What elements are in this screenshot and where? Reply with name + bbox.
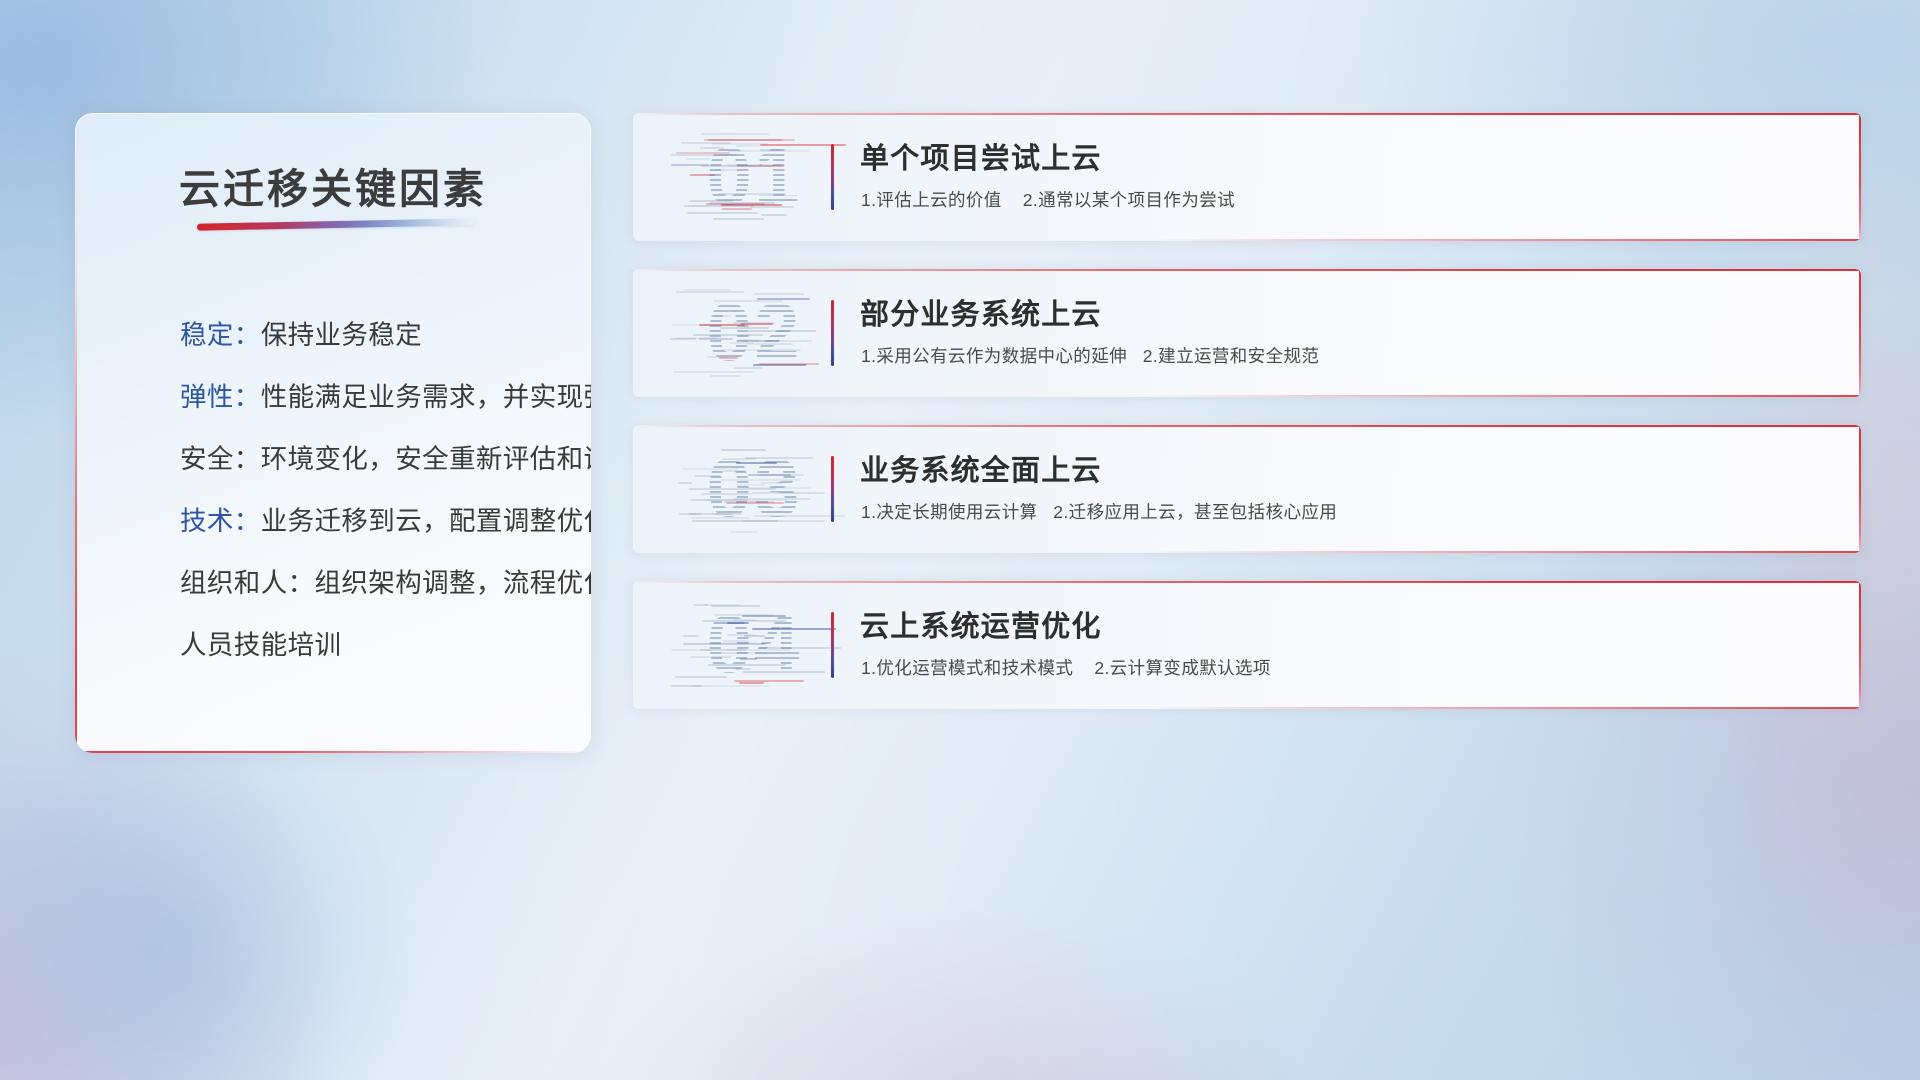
factor-label: 稳定：	[180, 320, 261, 350]
card-description: 1.决定长期使用云计算 2.迁移应用上云，甚至包括核心应用	[861, 499, 1337, 524]
list-item: 人员技能培训	[180, 627, 561, 663]
list-item: 技术：业务迁移到云，配置调整优化	[180, 503, 561, 539]
list-item: 安全：环境变化，安全重新评估和评审	[180, 441, 561, 477]
card-right-accent-border	[1859, 581, 1861, 709]
factor-text: 性能满足业务需求，并实现弹性	[261, 382, 591, 412]
card-description: 1.采用公有云作为数据中心的延伸 2.建立运营和安全规范	[861, 343, 1319, 368]
card-top-accent-border	[633, 425, 1861, 427]
slide-stage: 云迁移关键因素 稳定：保持业务稳定 弹性：性能满足业务需求，并实现弹性 安全：环…	[0, 0, 1920, 1080]
factor-text: 业务迁移到云，配置调整优化	[261, 506, 591, 536]
stage-card-01[interactable]: 01 单个项目尝试上云 1.评估上云的价值 2.通常以某个项目作为尝试	[633, 113, 1861, 241]
factor-label: 弹性：	[180, 382, 261, 412]
card-title: 业务系统全面上云	[860, 447, 1102, 489]
card-number-watermark: 01	[669, 129, 839, 225]
factor-text: 保持业务稳定	[261, 320, 422, 350]
list-item: 组织和人：组织架构调整，流程优化，	[180, 565, 561, 601]
stage-cards-list: 01 单个项目尝试上云 1.评估上云的价值 2.通常以某个项目作为尝试 02 部…	[633, 113, 1861, 709]
card-top-accent-border	[633, 113, 1861, 115]
card-description: 1.优化运营模式和技术模式 2.云计算变成默认选项	[861, 655, 1271, 680]
card-right-accent-border	[1859, 425, 1861, 553]
card-bottom-accent-border	[1149, 707, 1861, 709]
card-divider-bar	[831, 144, 834, 210]
card-divider-bar	[831, 612, 834, 678]
card-number-watermark: 03	[669, 441, 839, 537]
card-number-watermark: 02	[669, 285, 839, 381]
factor-text: 组织架构调整，流程优化，	[315, 568, 592, 598]
factor-label: 技术：	[180, 506, 261, 536]
title-underline-rule	[197, 218, 475, 230]
factor-text: 环境变化，安全重新评估和评审	[261, 444, 591, 474]
factor-label: 安全：	[180, 444, 261, 474]
stage-card-02[interactable]: 02 部分业务系统上云 1.采用公有云作为数据中心的延伸 2.建立运营和安全规范	[633, 269, 1861, 397]
card-top-accent-border	[633, 269, 1861, 271]
card-title: 单个项目尝试上云	[860, 135, 1102, 177]
card-title: 云上系统运营优化	[860, 603, 1102, 645]
page-title: 云迁移关键因素	[75, 155, 591, 215]
card-description: 1.评估上云的价值 2.通常以某个项目作为尝试	[861, 187, 1235, 212]
factor-label: 组织和人：	[180, 568, 315, 598]
card-right-accent-border	[1859, 113, 1861, 241]
card-divider-bar	[831, 456, 834, 522]
card-right-accent-border	[1859, 269, 1861, 397]
list-item: 弹性：性能满足业务需求，并实现弹性	[180, 379, 561, 415]
card-number-watermark: 04	[669, 597, 839, 693]
card-bottom-accent-border	[1149, 551, 1861, 553]
card-title: 部分业务系统上云	[860, 291, 1102, 333]
key-factors-panel: 云迁移关键因素 稳定：保持业务稳定 弹性：性能满足业务需求，并实现弹性 安全：环…	[75, 113, 591, 753]
card-top-accent-border	[633, 581, 1861, 583]
list-item: 稳定：保持业务稳定	[180, 317, 561, 353]
card-divider-bar	[831, 300, 834, 366]
stage-card-04[interactable]: 04 云上系统运营优化 1.优化运营模式和技术模式 2.云计算变成默认选项	[633, 581, 1861, 709]
card-bottom-accent-border	[1149, 239, 1861, 241]
card-bottom-accent-border	[1149, 395, 1861, 397]
key-factors-list: 稳定：保持业务稳定 弹性：性能满足业务需求，并实现弹性 安全：环境变化，安全重新…	[180, 317, 561, 663]
factor-text-continuation: 人员技能培训	[180, 630, 341, 660]
stage-card-03[interactable]: 03 业务系统全面上云 1.决定长期使用云计算 2.迁移应用上云，甚至包括核心应…	[633, 425, 1861, 553]
